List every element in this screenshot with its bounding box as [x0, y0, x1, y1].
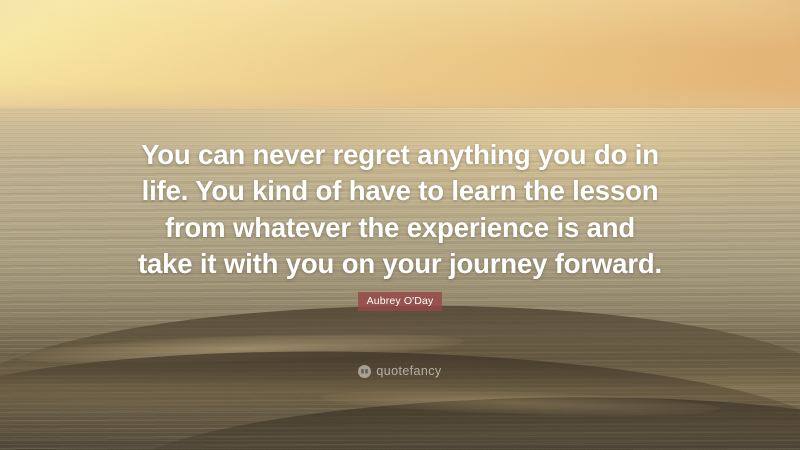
quote-text: You can never regret anything you do in … [127, 137, 673, 283]
quote-mark-icon [358, 365, 371, 378]
quote-line-2: life. You kind of have to learn the less… [127, 173, 673, 209]
author-name-badge: Aubrey O'Day [358, 292, 443, 311]
quotefancy-watermark: quotefancy [0, 365, 800, 378]
quote-line-1: You can never regret anything you do in [127, 137, 673, 173]
quote-line-3: from whatever the experience is and [127, 210, 673, 246]
text-overlay: You can never regret anything you do in … [0, 0, 800, 450]
quote-poster-image: You can never regret anything you do in … [0, 0, 800, 450]
author-badge-row: Aubrey O'Day [0, 292, 800, 311]
quote-line-4: take it with you on your journey forward… [127, 246, 673, 282]
quotefancy-brand-label: quotefancy [376, 365, 441, 378]
